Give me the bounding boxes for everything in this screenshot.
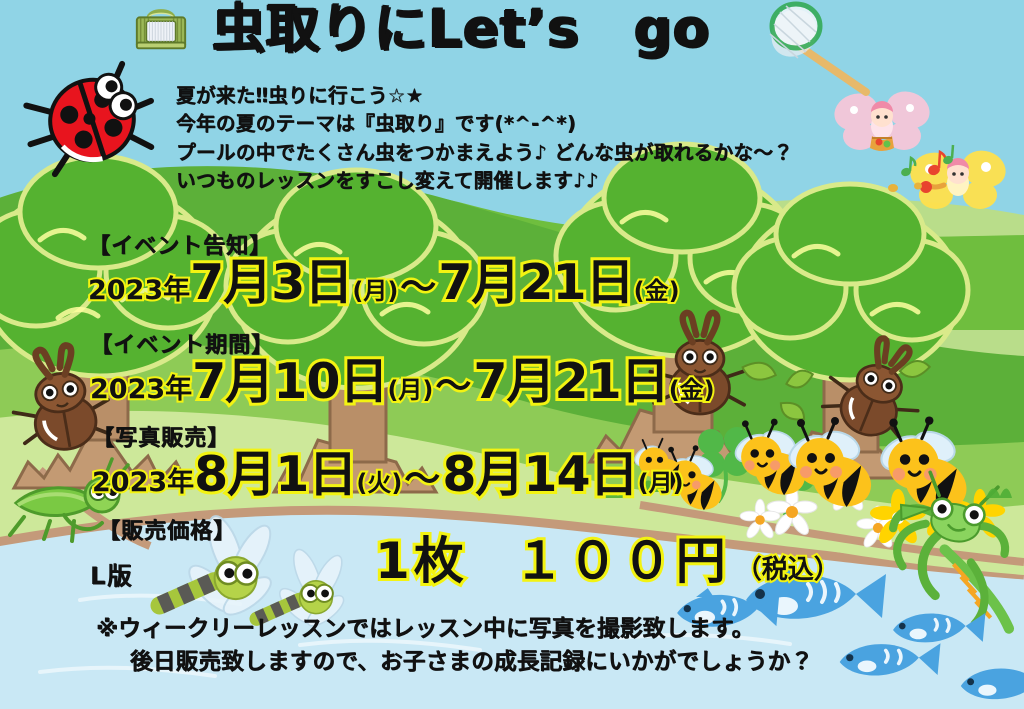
date-range: 2023年 7月3日 (月) ～ 7月21日 (金) [88, 258, 680, 310]
lead-line-2: 今年の夏のテーマは『虫取り』です(*^-^*) [176, 110, 876, 138]
poster-canvas: 虫取りにLet’s go 夏が来た‼虫りに行こう☆★ 今年の夏のテーマは『虫取り… [0, 0, 1024, 709]
range-separator: ～ [402, 450, 442, 502]
lead-paragraph: 夏が来た‼虫りに行こう☆★ 今年の夏のテーマは『虫取り』です(*^-^*) プー… [176, 82, 876, 195]
ladybug-icon [16, 59, 165, 182]
end-date: 7月21日 [473, 357, 668, 406]
year: 2023年 [88, 268, 190, 307]
end-dow: (金) [634, 271, 680, 306]
range-separator: ～ [398, 258, 438, 310]
section-photo-sales: 【写真販売】 2023年 8月1日 (火) ～ 8月14日 (月) [92, 420, 684, 502]
lead-line-3: プールの中でたくさん虫をつかまえよう♪ どんな虫が取れるかな～？ [176, 139, 876, 167]
section-event-period: 【イベント期間】 2023年 7月10日 (月) ～ 7月21日 (金) [90, 327, 715, 409]
footnote: ※ウィークリーレッスンではレッスン中に写真を撮影致します。 後日販売致しますので… [96, 613, 926, 678]
page-title: 虫取りにLet’s go [212, 2, 710, 55]
start-date: 8月1日 [194, 450, 356, 499]
start-date: 7月3日 [190, 258, 352, 307]
footnote-line-2: 後日販売致しますので、お子さまの成長記録にいかがでしょうか？ [96, 646, 926, 679]
end-dow: (月) [638, 463, 684, 498]
price-amount: １００円 [514, 536, 730, 586]
end-date: 8月14日 [442, 450, 637, 499]
price-value: 1枚 １００円 （税込） [375, 536, 840, 586]
lead-line-4: いつものレッスンをすこし変えて開催します♪♪ [176, 167, 876, 195]
section-label-price: 【販売価格】 [98, 513, 236, 545]
start-dow: (火) [356, 463, 402, 498]
year: 2023年 [92, 460, 194, 499]
start-date: 7月10日 [192, 357, 387, 406]
price-tax-note: （税込） [736, 549, 840, 586]
leaf-icon [741, 359, 931, 425]
range-separator: ～ [433, 357, 473, 409]
end-dow: (金) [669, 370, 715, 405]
lead-line-1: 夏が来た‼虫りに行こう☆★ [176, 82, 876, 110]
start-dow: (月) [387, 370, 433, 405]
year: 2023年 [90, 367, 192, 406]
footnote-line-1: ※ウィークリーレッスンではレッスン中に写真を撮影致します。 [96, 613, 926, 646]
print-size-label: L版 [90, 556, 133, 591]
poster-title-row: 虫取りにLet’s go [132, 2, 710, 55]
price-quantity: 1枚 [375, 536, 468, 586]
date-range: 2023年 8月1日 (火) ～ 8月14日 (月) [92, 450, 684, 502]
section-event-announcement: 【イベント告知】 2023年 7月3日 (月) ～ 7月21日 (金) [88, 228, 680, 310]
start-dow: (月) [352, 271, 398, 306]
end-date: 7月21日 [438, 258, 633, 307]
date-range: 2023年 7月10日 (月) ～ 7月21日 (金) [90, 357, 715, 409]
butterfly-fairy-yellow-icon [906, 145, 1011, 209]
insect-cage-icon [132, 3, 190, 55]
